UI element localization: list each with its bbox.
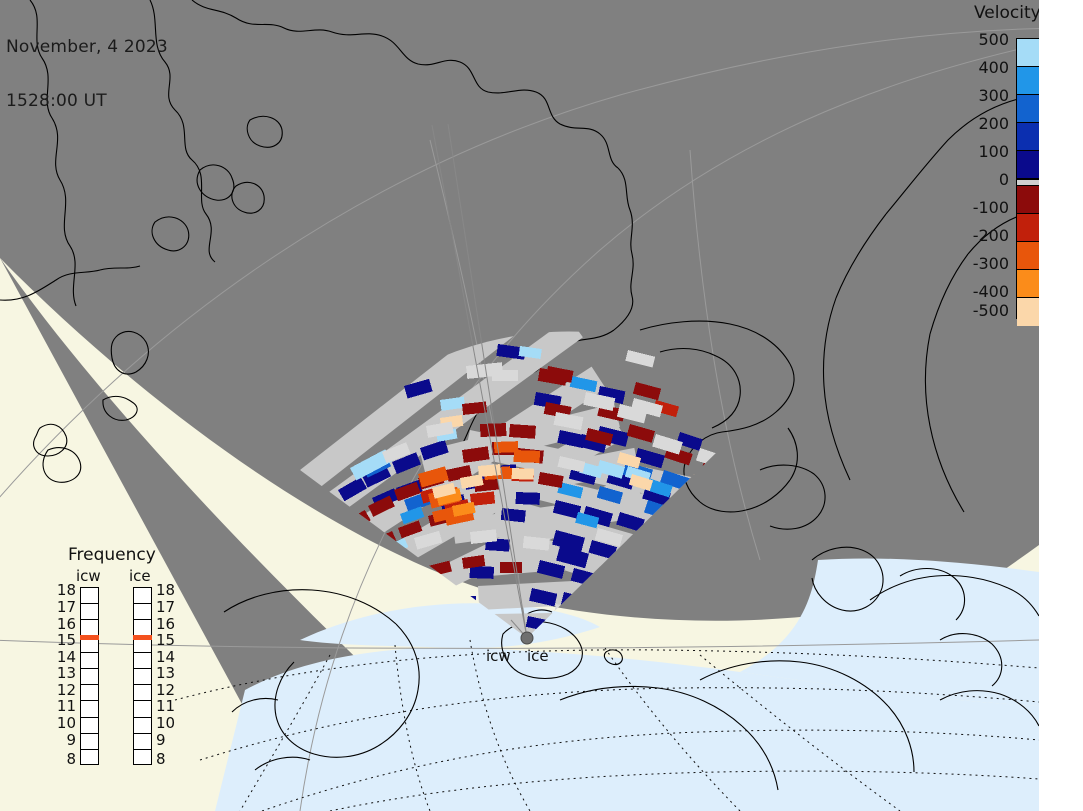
vel-tick-neg500: -500	[973, 301, 1009, 320]
timestamp-date: November, 4 2023	[6, 38, 168, 56]
velbar-seg-100-200	[1017, 123, 1039, 151]
map-panel[interactable]: icw ice November, 4 2023 1528:00 UT Freq…	[0, 0, 1039, 811]
vel-tick-0: 0	[999, 170, 1009, 189]
freq-tick-right-13: 13	[156, 664, 178, 682]
freq-tick-left-10: 10	[54, 714, 76, 732]
timestamp-time: 1528:00 UT	[6, 92, 168, 110]
velbar-seg-neg200-300	[1017, 242, 1039, 270]
vel-tick-200: 200	[978, 114, 1009, 133]
freq-tick-right-11: 11	[156, 697, 178, 715]
velbar-seg-200-300	[1017, 95, 1039, 123]
freq-tick-left-11: 11	[54, 697, 76, 715]
vel-tick-500: 500	[978, 30, 1009, 49]
vel-tick-300: 300	[978, 86, 1009, 105]
freq-tick-left-9: 9	[54, 731, 76, 749]
freq-tick-left-15: 15	[54, 631, 76, 649]
velbar-seg-10-100	[1017, 151, 1039, 179]
frequency-column-label-ice: ice	[129, 567, 151, 585]
freq-tick-right-15: 15	[156, 631, 178, 649]
velbar-seg-300-400	[1017, 67, 1039, 95]
vel-tick-400: 400	[978, 58, 1009, 77]
freq-tick-right-9: 9	[156, 731, 178, 749]
freq-tick-left-17: 17	[54, 598, 76, 616]
vel-tick-neg400: -400	[973, 282, 1009, 301]
vel-tick-neg100: -100	[973, 198, 1009, 217]
frequency-marker-icw	[80, 635, 99, 640]
freq-tick-right-8: 8	[156, 750, 178, 768]
freq-tick-right-10: 10	[156, 714, 178, 732]
vel-tick-neg300: -300	[973, 254, 1009, 273]
velbar-seg-neg400-500	[1017, 298, 1039, 326]
velocity-colorbar-legend: Velocity (m/s) 500 400 300 200 100 0	[960, 0, 1039, 340]
velbar-seg-neg300-400	[1017, 270, 1039, 298]
velocity-colorbar[interactable]	[1016, 38, 1039, 319]
freq-tick-left-8: 8	[54, 750, 76, 768]
frequency-scale-icw	[80, 587, 99, 765]
freq-tick-left-13: 13	[54, 664, 76, 682]
vel-tick-100: 100	[978, 142, 1009, 161]
vel-tick-neg200: -200	[973, 226, 1009, 245]
freq-tick-right-17: 17	[156, 598, 178, 616]
frequency-scale-ice	[133, 587, 152, 765]
site-label-icw: icw	[486, 647, 511, 665]
frequency-marker-ice	[133, 635, 152, 640]
timestamp: November, 4 2023 1528:00 UT	[6, 2, 168, 146]
velbar-seg-400-500	[1017, 39, 1039, 67]
site-label-ice: ice	[527, 647, 549, 665]
velocity-colorbar-title: Velocity (m/s)	[974, 3, 1039, 23]
frequency-legend: Frequency icw ice	[46, 545, 206, 785]
superdarn-velocity-map: icw ice November, 4 2023 1528:00 UT Freq…	[0, 0, 1083, 811]
velbar-seg-neg100-200	[1017, 214, 1039, 242]
velbar-seg-neg10-100	[1017, 186, 1039, 214]
frequency-column-label-icw: icw	[76, 567, 101, 585]
freq-tick-right-18: 18	[156, 581, 178, 599]
radar-site-marker	[521, 632, 533, 644]
velbar-seg-zero	[1017, 179, 1039, 186]
frequency-legend-title: Frequency	[68, 545, 156, 565]
freq-tick-left-18: 18	[54, 581, 76, 599]
